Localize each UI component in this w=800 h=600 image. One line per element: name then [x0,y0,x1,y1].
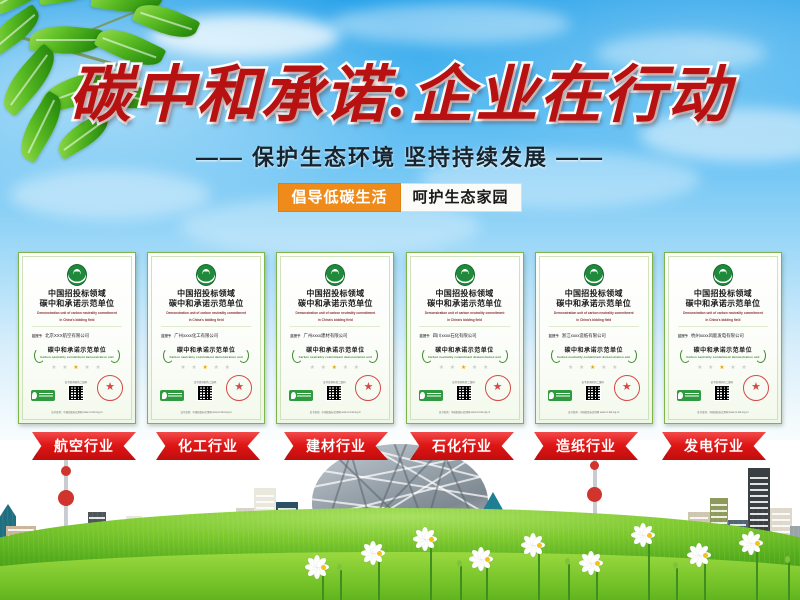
cert-star-rating: ★ ★ ★ ★ ★ [310,365,362,371]
cert-english-line1: Demonstration unit of carbon neutrality … [547,311,641,316]
official-seal-icon [97,375,123,401]
cert-footer-line1: 证书查询：中国招投标信用网 www.cn-bid.org.cn [676,411,770,416]
cert-english-line2: in China's bidding field [676,318,770,323]
qr-code-icon[interactable] [326,385,342,401]
qr-label: 证书查询防伪二维码 [65,380,88,384]
official-seal-icon [743,375,769,401]
cert-awardee: 兹授予 浙江xxxx造纸有限公司 [549,333,639,339]
cert-wreath-badge: 碳中和承诺示范单位 Carbon neutrality commitment d… [289,347,381,362]
cert-company-name: 浙江xxxx造纸有限公司 [562,333,606,339]
flower-icon [366,540,392,566]
green-logo-icon [677,390,701,401]
green-logo-icon [160,390,184,401]
flower-field [300,500,800,600]
cert-name-label: 兹授予 [290,333,300,338]
qr-label: 证书查询防伪二维码 [194,380,217,384]
industry-ribbon-row: 航空行业 化工行业 建材行业 石化行业 造纸行业 发电行业 [0,432,800,464]
green-logo-icon [548,390,572,401]
qr-code-icon[interactable] [585,385,601,401]
cert-title-line2: 碳中和承诺示范单位 [298,299,373,309]
certificate-card[interactable]: 中国招投标领域 碳中和承诺示范单位 Demonstration unit of … [535,252,653,424]
cert-name-label: 兹授予 [32,333,42,338]
official-seal-icon [614,375,640,401]
certification-emblem-icon [713,264,733,286]
qr-label: 证书查询防伪二维码 [452,380,475,384]
cert-english-line2: in China's bidding field [30,318,124,323]
flower-icon [692,542,718,568]
cert-company-name: 北京XXX航空有限公司 [45,333,89,339]
cert-awardee: 兹授予 广州xxxx建材有限公司 [290,333,380,339]
cert-title-line1: 中国招投标领域 [436,289,494,299]
certificate-card[interactable]: 中国招投标领域 碳中和承诺示范单位 Demonstration unit of … [18,252,136,424]
qr-label: 证书查询防伪二维码 [711,380,734,384]
cert-footer-line1: 证书查询：中国招投标信用网 www.cn-bid.org.cn [288,411,382,416]
cert-awardee: 兹授予 北京XXX航空有限公司 [32,333,122,339]
certificate-card[interactable]: 中国招投标领域 碳中和承诺示范单位 Demonstration unit of … [406,252,524,424]
certification-emblem-icon [325,264,345,286]
green-logo-icon [31,390,55,401]
qr-code-icon[interactable] [456,385,472,401]
cert-english-line1: Demonstration unit of carbon neutrality … [288,311,382,316]
cert-footer-line1: 证书查询：中国招投标信用网 www.cn-bid.org.cn [418,411,512,416]
official-seal-icon [485,375,511,401]
ribbon-aviation[interactable]: 航空行业 [32,432,136,460]
cert-name-label: 兹授予 [419,333,429,338]
certification-emblem-icon [455,264,475,286]
certificate-row: 中国招投标领域 碳中和承诺示范单位 Demonstration unit of … [18,252,782,424]
certificate-card[interactable]: 中国招投标领域 碳中和承诺示范单位 Demonstration unit of … [664,252,782,424]
cert-english-line1: Demonstration unit of carbon neutrality … [676,311,770,316]
divider [161,326,251,327]
cert-english-line2: in China's bidding field [159,318,253,323]
qr-label: 证书查询防伪二维码 [323,380,346,384]
wreath-title-en: Carbon neutrality commitment demonstrati… [428,356,501,360]
divider [549,326,639,327]
cert-wreath-badge: 碳中和承诺示范单位 Carbon neutrality commitment d… [677,347,769,362]
green-logo-icon [419,390,443,401]
page-subtitle: —— 保护生态环境 坚持持续发展 —— [0,140,800,172]
cert-english-line1: Demonstration unit of carbon neutrality … [30,311,124,316]
certificate-card[interactable]: 中国招投标领域 碳中和承诺示范单位 Demonstration unit of … [147,252,265,424]
slogan-badges: 倡导低碳生活 呵护生态家园 [0,183,800,212]
wreath-title-en: Carbon neutrality commitment demonstrati… [557,356,630,360]
qr-code-icon[interactable] [68,385,84,401]
cert-awardee: 兹授予 杭州xxxx风能发电有限公司 [678,333,768,339]
flower-icon [744,530,770,556]
divider [419,326,509,327]
wreath-title-en: Carbon neutrality commitment demonstrati… [299,356,372,360]
cert-title-line2: 碳中和承诺示范单位 [556,299,631,309]
badge-low-carbon-life: 倡导低碳生活 [278,183,400,212]
qr-label: 证书查询防伪二维码 [581,380,604,384]
cert-title-line1: 中国招投标领域 [694,289,752,299]
divider [678,326,768,327]
cloud-decor [330,4,570,44]
flower-icon [584,550,610,576]
cert-wreath-badge: 碳中和承诺示范单位 Carbon neutrality commitment d… [160,347,252,362]
cert-star-rating: ★ ★ ★ ★ ★ [51,365,103,371]
cert-title-line1: 中国招投标领域 [177,289,235,299]
cert-footer-line1: 证书查询：中国招投标信用网 www.cn-bid.org.cn [547,411,641,416]
cert-title-line2: 碳中和承诺示范单位 [686,299,761,309]
wreath-title-en: Carbon neutrality commitment demonstrati… [40,356,113,360]
flower-icon [310,554,336,580]
cert-awardee: 兹授予 四川xxxx石化有限公司 [419,333,509,339]
qr-code-icon[interactable] [714,385,730,401]
certification-emblem-icon [196,264,216,286]
cert-title-line1: 中国招投标领域 [48,289,106,299]
green-logo-icon [289,390,313,401]
certificate-card[interactable]: 中国招投标领域 碳中和承诺示范单位 Demonstration unit of … [276,252,394,424]
cert-star-rating: ★ ★ ★ ★ ★ [568,365,620,371]
ribbon-petrochemical[interactable]: 石化行业 [410,432,514,460]
qr-code-icon[interactable] [197,385,213,401]
flower-icon [418,526,444,552]
cert-wreath-badge: 碳中和承诺示范单位 Carbon neutrality commitment d… [31,347,123,362]
official-seal-icon [355,375,381,401]
wreath-title-en: Carbon neutrality commitment demonstrati… [169,356,242,360]
poster-canvas: 碳中和承诺:企业在行动 —— 保护生态环境 坚持持续发展 —— 倡导低碳生活 呵… [0,0,800,600]
cert-wreath-badge: 碳中和承诺示范单位 Carbon neutrality commitment d… [419,347,511,362]
badge-eco-home: 呵护生态家园 [401,183,522,212]
ribbon-chemical[interactable]: 化工行业 [156,432,260,460]
cert-wreath-badge: 碳中和承诺示范单位 Carbon neutrality commitment d… [548,347,640,362]
wreath-title-en: Carbon neutrality commitment demonstrati… [686,356,759,360]
cert-star-rating: ★ ★ ★ ★ ★ [439,365,491,371]
divider [32,326,122,327]
cert-english-line2: in China's bidding field [547,318,641,323]
cert-english-line1: Demonstration unit of carbon neutrality … [159,311,253,316]
official-seal-icon [226,375,252,401]
ribbon-building-materials[interactable]: 建材行业 [284,432,388,460]
cert-company-name: 杭州xxxx风能发电有限公司 [691,333,744,339]
ribbon-power-generation[interactable]: 发电行业 [662,432,766,460]
cert-footer-line1: 证书查询：中国招投标信用网 www.cn-bid.org.cn [30,411,124,416]
cert-english-line1: Demonstration unit of carbon neutrality … [418,311,512,316]
certification-emblem-icon [67,264,87,286]
certification-emblem-icon [584,264,604,286]
cert-star-rating: ★ ★ ★ ★ ★ [180,365,232,371]
cert-company-name: 四川xxxx石化有限公司 [433,333,477,339]
ribbon-paper[interactable]: 造纸行业 [534,432,638,460]
cert-english-line2: in China's bidding field [418,318,512,323]
flower-icon [636,522,662,548]
cert-name-label: 兹授予 [678,333,688,338]
flower-icon [526,532,552,558]
cert-star-rating: ★ ★ ★ ★ ★ [697,365,749,371]
cert-name-label: 兹授予 [549,333,559,338]
page-title: 碳中和承诺:企业在行动 [0,44,800,134]
cert-footer-line1: 证书查询：中国招投标信用网 www.cn-bid.org.cn [159,411,253,416]
cert-title-line2: 碳中和承诺示范单位 [169,299,244,309]
cert-title-line2: 碳中和承诺示范单位 [40,299,115,309]
cert-name-label: 兹授予 [161,333,171,338]
flower-icon [474,546,500,572]
cert-title-line1: 中国招投标领域 [306,289,364,299]
cert-title-line2: 碳中和承诺示范单位 [427,299,502,309]
cert-company-name: 广州xxxx建材有限公司 [303,333,347,339]
cert-english-line2: in China's bidding field [288,318,382,323]
cert-awardee: 兹授予 广州xxxx化工有限公司 [161,333,251,339]
cert-company-name: 广州xxxx化工有限公司 [174,333,218,339]
divider [290,326,380,327]
cert-title-line1: 中国招投标领域 [565,289,623,299]
